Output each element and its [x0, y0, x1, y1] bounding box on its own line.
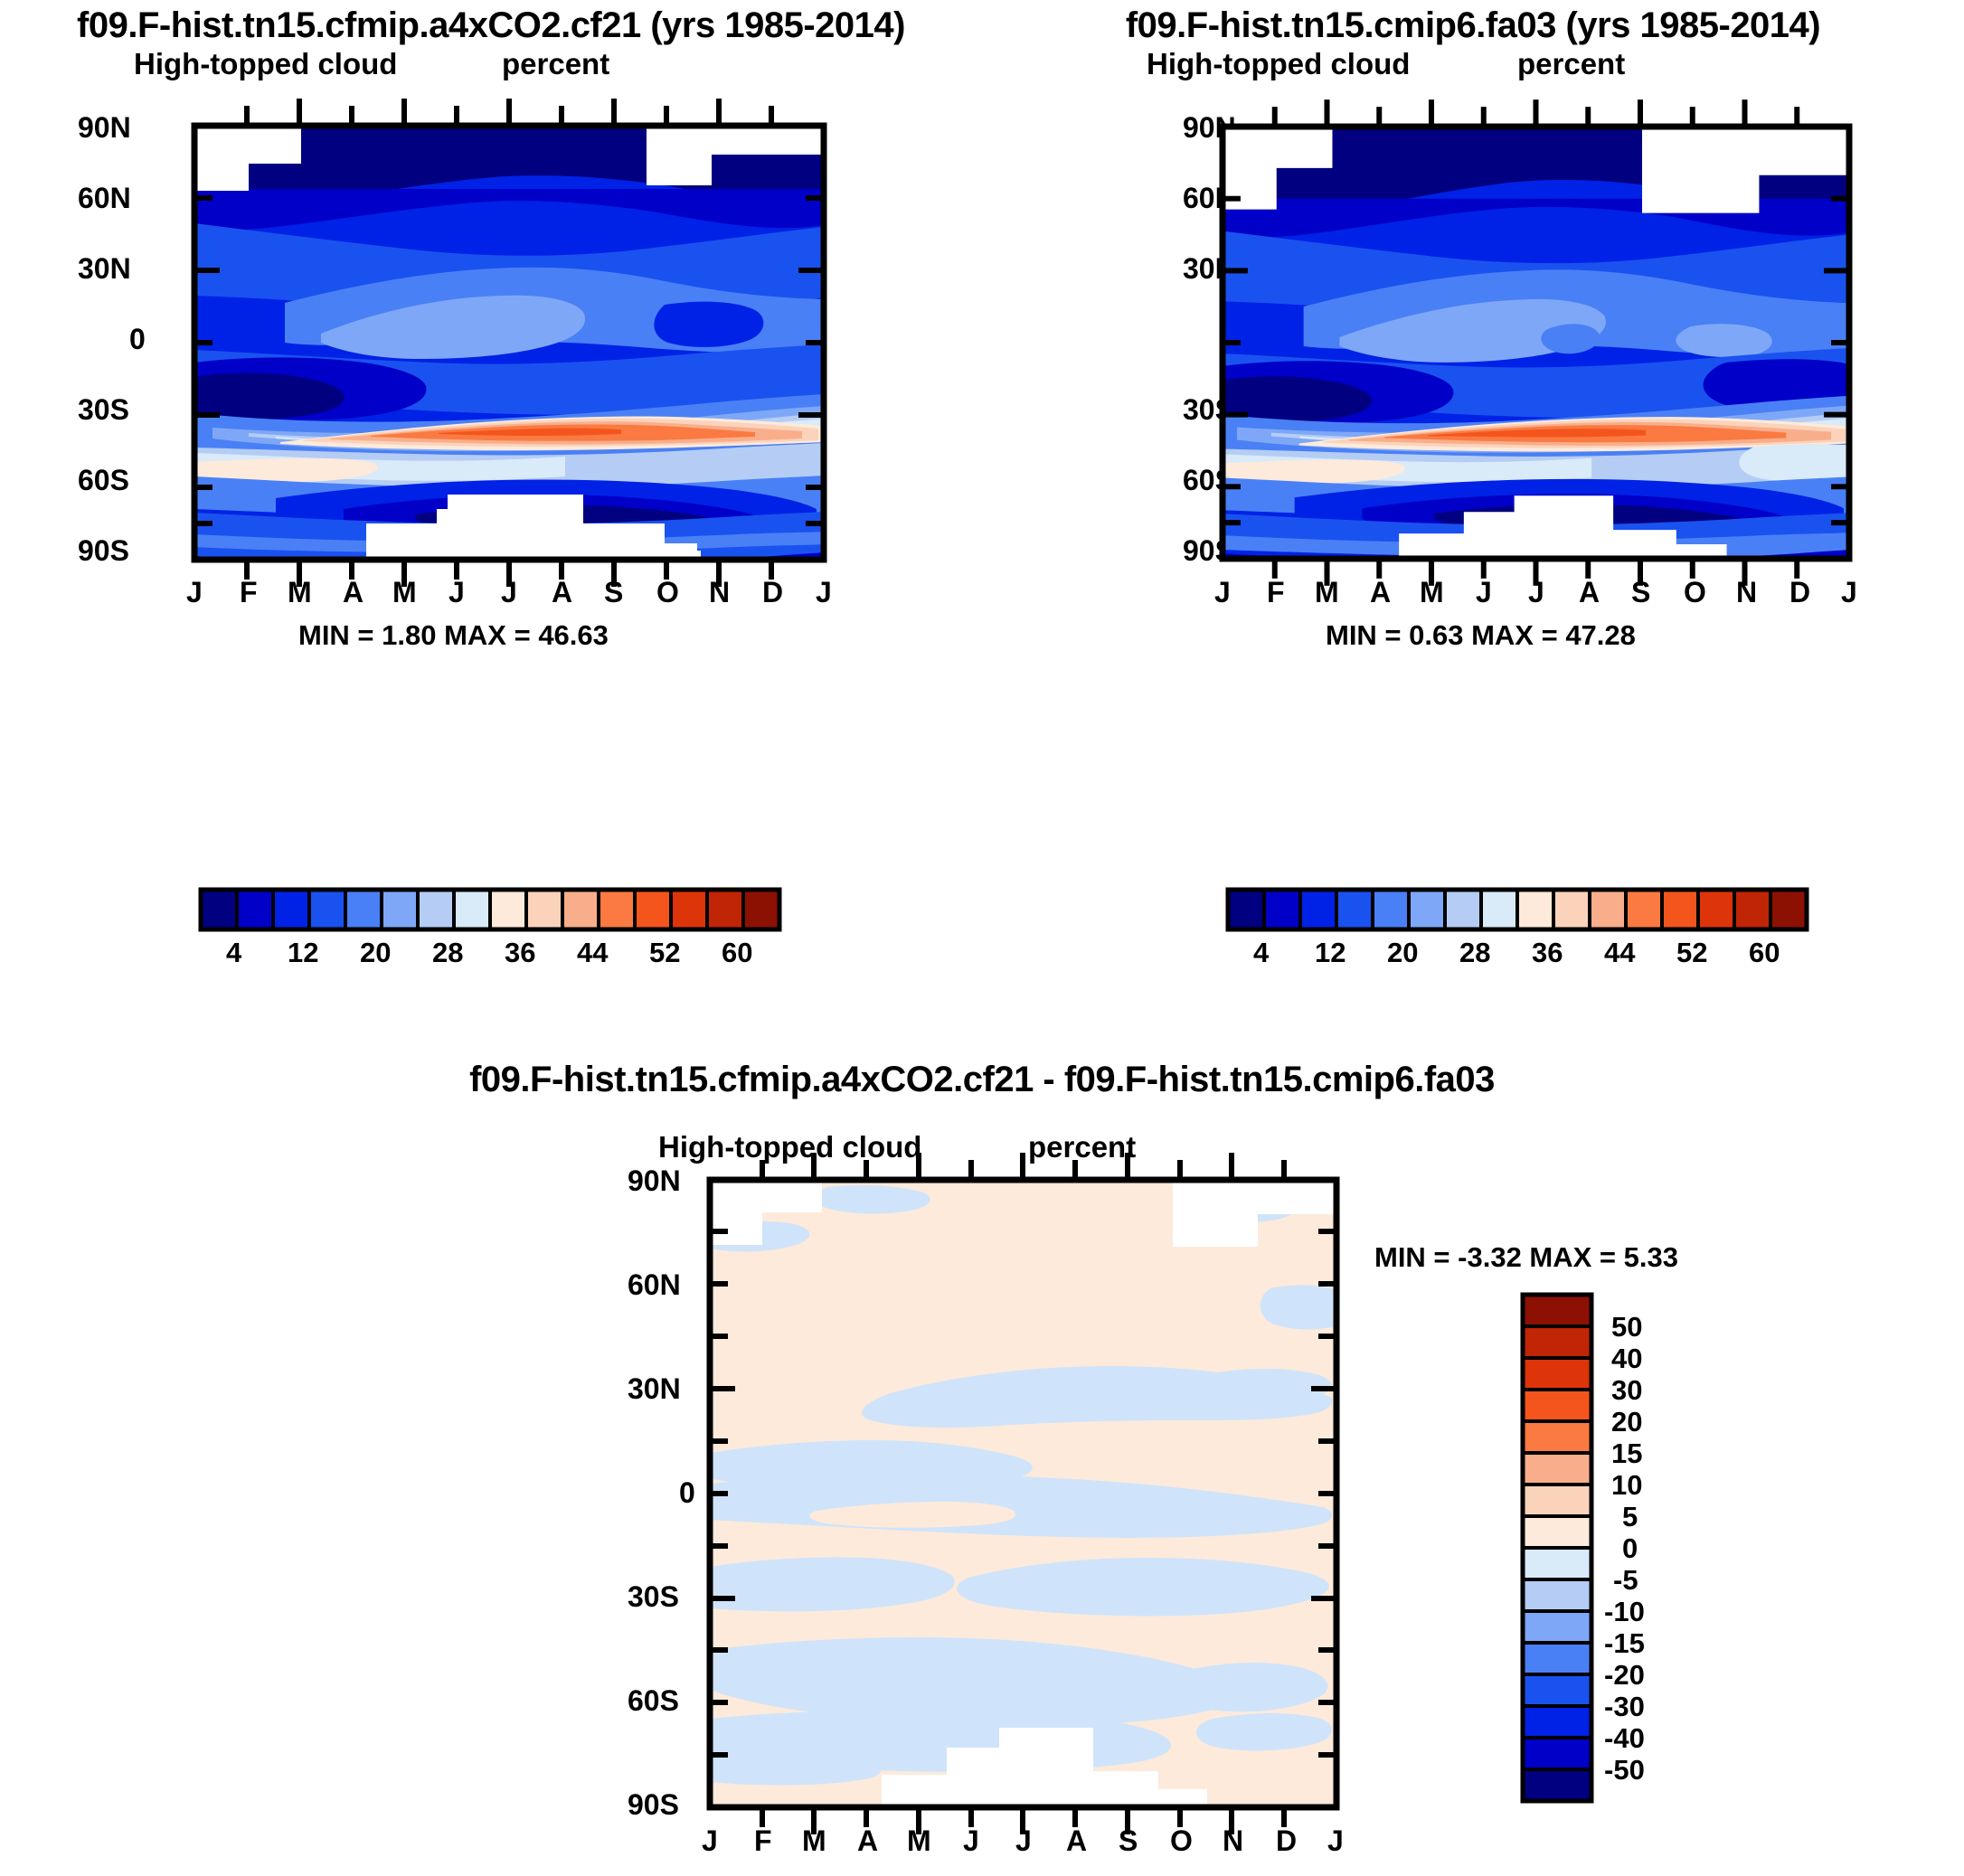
colorbar-cell: [1523, 1326, 1591, 1358]
x-tick-mar-r: M: [1315, 576, 1339, 609]
colorbar-cell: [599, 890, 635, 929]
cbar-tick-12: 12: [288, 937, 318, 969]
panel-left-variable-label: High-topped cloud: [134, 47, 397, 81]
y-tick-30s-d: 30S: [628, 1580, 679, 1614]
colorbar-cell: [1523, 1295, 1591, 1326]
x-tick-sep: S: [604, 576, 623, 609]
x-tick-apr: A: [343, 576, 364, 609]
colorbar-cell: [1481, 890, 1517, 929]
colorbar-cell: [562, 890, 599, 929]
x-tick-aug: A: [552, 576, 572, 609]
colorbar-cell: [635, 890, 671, 929]
vcbar-tick-m10: -10: [1604, 1596, 1645, 1628]
x-tick-jan2-d: J: [1327, 1824, 1344, 1858]
colorbar-cell: [1264, 890, 1300, 929]
panel-left-units-label: percent: [502, 47, 609, 81]
x-tick-mar: M: [288, 576, 312, 609]
colorbar-cell: [1523, 1706, 1591, 1738]
cbar-tick-36: 36: [505, 937, 535, 969]
vcbar-tick-10: 10: [1611, 1469, 1642, 1502]
colorbar-cell: [1409, 890, 1445, 929]
panel-diff: f09.F-hist.tn15.cfmip.a4xCO2.cf21 - f09.…: [0, 1049, 1964, 1876]
colorbar-cell: [1228, 890, 1264, 929]
x-tick-dec-r: D: [1789, 576, 1810, 609]
x-tick-may-r: M: [1420, 576, 1444, 609]
y-tick-0-d: 0: [679, 1476, 695, 1510]
x-tick-may-d: M: [907, 1824, 931, 1858]
y-tick-60n: 60N: [78, 182, 131, 215]
cbar-tick-52: 52: [649, 937, 680, 969]
cbar-tick-20-r: 20: [1387, 937, 1418, 969]
panel-left-title: f09.F-hist.tn15.cfmip.a4xCO2.cf21 (yrs 1…: [0, 5, 982, 46]
colorbar-cell: [1523, 1453, 1591, 1485]
colorbar-cell: [1517, 890, 1553, 929]
panel-diff-units-label: percent: [1028, 1130, 1136, 1164]
x-tick-nov-r: N: [1736, 576, 1757, 609]
colorbar-cell: [382, 890, 418, 929]
x-tick-may: M: [392, 576, 417, 609]
x-tick-jul: J: [501, 576, 517, 609]
vcbar-tick-m5: -5: [1613, 1564, 1638, 1597]
x-tick-jan-d: J: [702, 1824, 718, 1858]
cbar-tick-12-r: 12: [1315, 937, 1346, 969]
x-tick-jan-r: J: [1214, 576, 1231, 609]
colorbar-cell: [309, 890, 345, 929]
x-tick-aug-r: A: [1579, 576, 1600, 609]
x-tick-feb-r: F: [1267, 576, 1285, 609]
x-tick-jan2: J: [816, 576, 832, 609]
colorbar-cell: [490, 890, 526, 929]
cbar-tick-28-r: 28: [1459, 937, 1490, 969]
cbar-tick-60: 60: [722, 937, 752, 969]
colorbar-cell: [345, 890, 382, 929]
x-tick-jul-r: J: [1528, 576, 1544, 609]
x-tick-sep-d: S: [1119, 1824, 1138, 1858]
panel-right-units-label: percent: [1517, 47, 1625, 81]
colorbar-cell: [1523, 1611, 1591, 1643]
panel-right-minmax: MIN = 0.63 MAX = 47.28: [1326, 619, 1636, 652]
vcbar-tick-40: 40: [1611, 1343, 1642, 1375]
panel-left-colorbar: [201, 890, 779, 929]
x-tick-mar-d: M: [802, 1824, 826, 1858]
cbar-tick-4: 4: [226, 937, 241, 969]
x-tick-apr-r: A: [1370, 576, 1391, 609]
colorbar-cell: [743, 890, 779, 929]
panel-diff-minmax: MIN = -3.32 MAX = 5.33: [1374, 1241, 1678, 1274]
panel-diff-colorbar-ticklabels: 50 40 30 20 15 10 5 0 -5 -10 -15 -20 -30…: [1602, 1295, 1729, 1801]
x-tick-nov-d: N: [1223, 1824, 1243, 1858]
colorbar-cell: [1523, 1421, 1591, 1453]
y-tick-30s: 30S: [78, 393, 129, 427]
x-tick-feb-d: F: [754, 1824, 772, 1858]
colorbar-cell: [1523, 1738, 1591, 1769]
y-tick-90n: 90N: [78, 111, 131, 145]
y-tick-30n: 30N: [78, 252, 131, 286]
colorbar-cell: [1770, 890, 1807, 929]
colorbar-cell: [1523, 1548, 1591, 1579]
colorbar-cell: [707, 890, 743, 929]
x-tick-jan2-r: J: [1841, 576, 1857, 609]
y-tick-60s-d: 60S: [628, 1684, 679, 1718]
x-tick-aug-d: A: [1066, 1824, 1087, 1858]
colorbar-cell: [1523, 1485, 1591, 1516]
colorbar-cell: [1300, 890, 1336, 929]
x-tick-nov: N: [709, 576, 730, 609]
colorbar-cell: [1698, 890, 1734, 929]
vcbar-tick-5: 5: [1622, 1501, 1638, 1533]
y-tick-60n-d: 60N: [628, 1268, 681, 1302]
colorbar-cell: [671, 890, 707, 929]
cbar-tick-44: 44: [577, 937, 608, 969]
panel-left-colorbar-ticklabels: 4 12 20 28 36 44 52 60: [201, 937, 779, 976]
x-tick-dec-d: D: [1276, 1824, 1297, 1858]
y-tick-60s: 60S: [78, 464, 129, 497]
colorbar-cell: [1662, 890, 1698, 929]
y-tick-90s: 90S: [78, 534, 129, 568]
colorbar-cell: [1336, 890, 1373, 929]
panel-left-minmax: MIN = 1.80 MAX = 46.63: [298, 619, 609, 652]
x-tick-jul-d: J: [1015, 1824, 1032, 1858]
cbar-tick-36-r: 36: [1532, 937, 1563, 969]
vcbar-tick-m20: -20: [1604, 1659, 1645, 1692]
cbar-tick-60-r: 60: [1749, 937, 1780, 969]
panel-right-variable-label: High-topped cloud: [1147, 47, 1410, 81]
y-tick-90n-d: 90N: [628, 1164, 681, 1198]
panel-right: f09.F-hist.tn15.cmip6.fa03 (yrs 1985-201…: [982, 0, 1964, 1004]
vcbar-tick-m50: -50: [1604, 1754, 1645, 1786]
y-tick-30n-d: 30N: [628, 1372, 681, 1406]
panel-left: f09.F-hist.tn15.cfmip.a4xCO2.cf21 (yrs 1…: [0, 0, 982, 1004]
colorbar-cell: [1523, 1643, 1591, 1674]
x-tick-feb: F: [240, 576, 258, 609]
y-tick-0: 0: [129, 323, 146, 356]
panel-right-plot: [1223, 126, 1849, 560]
colorbar-cell: [1734, 890, 1770, 929]
vcbar-tick-50: 50: [1611, 1311, 1642, 1343]
panel-diff-variable-label: High-topped cloud: [658, 1130, 921, 1164]
x-tick-apr-d: A: [857, 1824, 878, 1858]
x-tick-jun-r: J: [1476, 576, 1492, 609]
colorbar-cell: [1626, 890, 1662, 929]
cbar-tick-4-r: 4: [1253, 937, 1269, 969]
x-tick-jun-d: J: [963, 1824, 979, 1858]
vcbar-tick-15: 15: [1611, 1438, 1642, 1470]
vcbar-tick-m40: -40: [1604, 1722, 1645, 1755]
panel-diff-colorbar: [1523, 1295, 1591, 1801]
colorbar-cell: [1373, 890, 1409, 929]
vcbar-tick-30: 30: [1611, 1374, 1642, 1407]
colorbar-cell: [1523, 1674, 1591, 1706]
colorbar-cell: [1523, 1390, 1591, 1421]
x-tick-dec: D: [762, 576, 783, 609]
vcbar-tick-m15: -15: [1604, 1627, 1645, 1660]
panel-right-colorbar: [1228, 890, 1807, 929]
y-tick-90s-d: 90S: [628, 1788, 679, 1822]
panel-right-title: f09.F-hist.tn15.cmip6.fa03 (yrs 1985-201…: [982, 5, 1964, 46]
colorbar-cell: [1590, 890, 1626, 929]
colorbar-cell: [1523, 1579, 1591, 1611]
colorbar-cell: [526, 890, 562, 929]
x-tick-jan: J: [186, 576, 203, 609]
colorbar-cell: [454, 890, 490, 929]
panel-right-colorbar-ticklabels: 4 12 20 28 36 44 52 60: [1228, 937, 1807, 976]
colorbar-cell: [1523, 1358, 1591, 1390]
cbar-tick-20: 20: [360, 937, 391, 969]
vcbar-tick-0: 0: [1622, 1532, 1638, 1565]
colorbar-cell: [418, 890, 454, 929]
colorbar-cell: [201, 890, 237, 929]
x-tick-jun: J: [449, 576, 465, 609]
vcbar-tick-20: 20: [1611, 1406, 1642, 1438]
x-tick-oct-d: O: [1170, 1824, 1193, 1858]
colorbar-cell: [1523, 1769, 1591, 1801]
x-tick-oct-r: O: [1684, 576, 1706, 609]
colorbar-cell: [1553, 890, 1590, 929]
x-tick-oct: O: [656, 576, 679, 609]
colorbar-cell: [1523, 1516, 1591, 1548]
x-tick-sep-r: S: [1631, 576, 1650, 609]
panel-diff-title: f09.F-hist.tn15.cfmip.a4xCO2.cf21 - f09.…: [0, 1060, 1964, 1100]
colorbar-cell: [273, 890, 309, 929]
panel-diff-plot: [710, 1180, 1336, 1807]
colorbar-cell: [1445, 890, 1481, 929]
colorbar-cell: [237, 890, 273, 929]
cbar-tick-28: 28: [432, 937, 463, 969]
panel-left-plot: [194, 126, 824, 560]
cbar-tick-52-r: 52: [1676, 937, 1707, 969]
cbar-tick-44-r: 44: [1604, 937, 1635, 969]
vcbar-tick-m30: -30: [1604, 1691, 1645, 1723]
